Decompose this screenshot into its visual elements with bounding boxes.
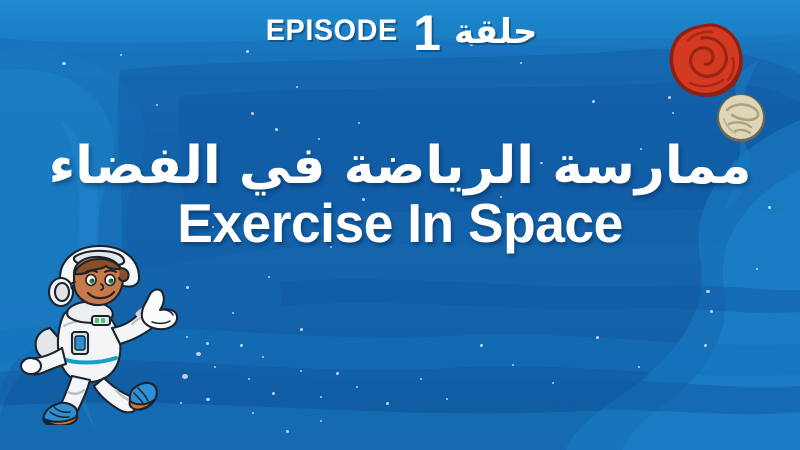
moon-planet-icon — [717, 94, 765, 142]
astronaut-character — [20, 240, 195, 425]
title-arabic: ممارسة الرياضة في الفضاء — [0, 140, 800, 193]
title-block: ممارسة الرياضة في الفضاء Exercise In Spa… — [0, 140, 800, 251]
sneaker-left — [43, 403, 77, 425]
episode-label-arabic: حلقة — [454, 15, 537, 49]
title-card: EPISODE 1 حلقة ممارسة الرياضة في الفضاء … — [0, 0, 800, 450]
episode-label: EPISODE — [265, 16, 397, 46]
episode-header: EPISODE 1 حلقة — [0, 0, 800, 62]
episode-number: 1 — [413, 8, 441, 58]
sneaker-right — [130, 383, 157, 410]
